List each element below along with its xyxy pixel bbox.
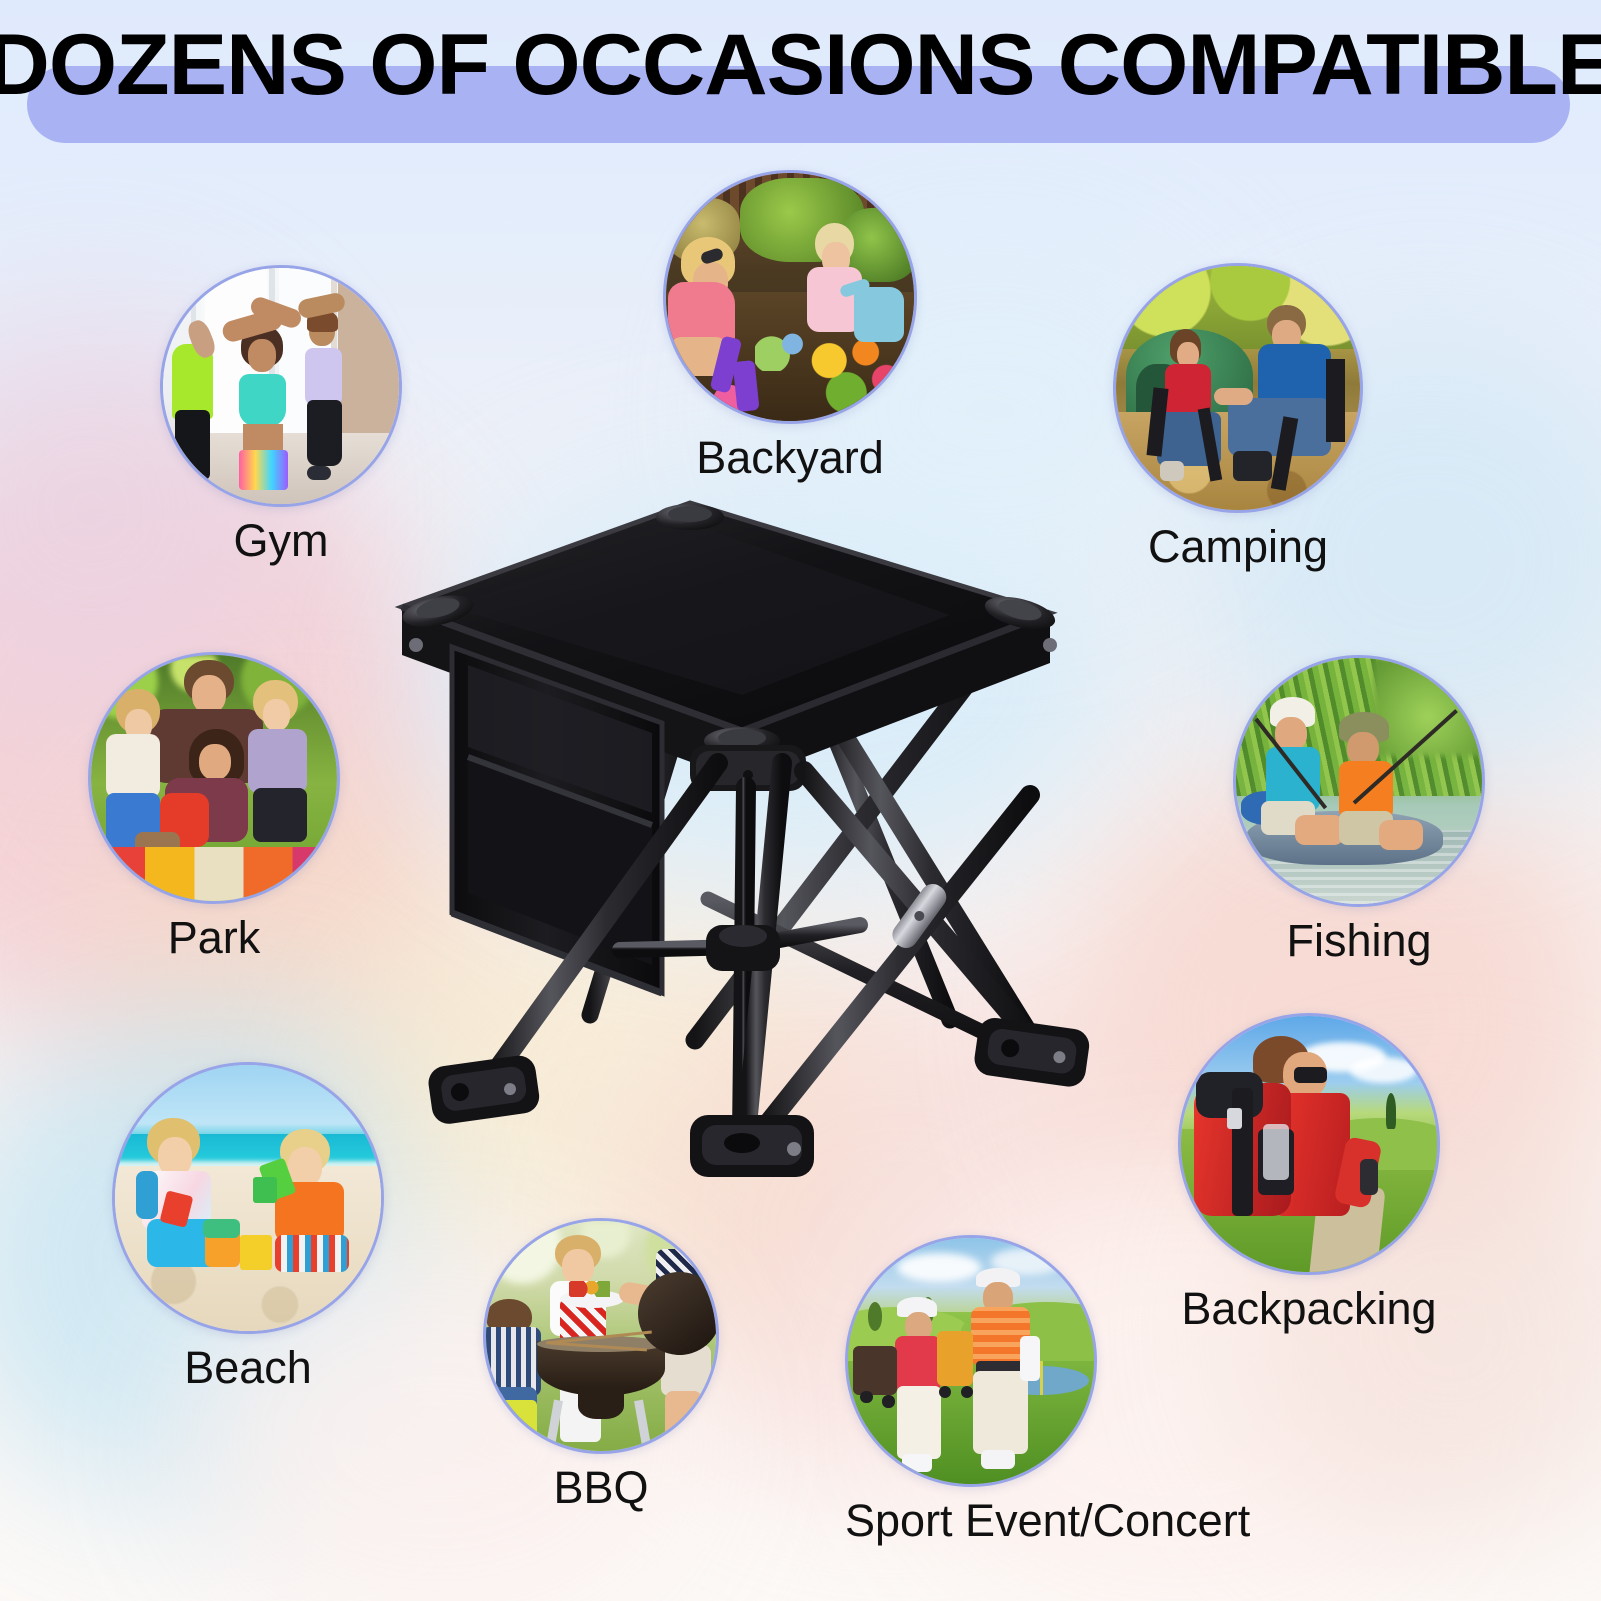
occasion-camping[interactable]: Camping (1113, 263, 1363, 570)
occasion-gym[interactable]: Gym (160, 265, 402, 564)
occasion-camping-image (1113, 263, 1363, 513)
occasion-bbq-label: BBQ (483, 1464, 719, 1511)
occasion-camping-label: Camping (1113, 523, 1363, 570)
occasion-sport-event[interactable]: Sport Event/Concert (845, 1235, 1250, 1544)
product-image-folding-stool (390, 495, 1090, 1255)
folding-stool-illustration (390, 495, 1090, 1255)
occasion-fishing-label: Fishing (1233, 917, 1485, 964)
occasion-backyard-image (663, 170, 917, 424)
occasion-park-label: Park (88, 914, 340, 961)
occasion-beach[interactable]: Beach (112, 1062, 384, 1391)
occasion-fishing[interactable]: Fishing (1233, 655, 1485, 964)
occasion-gym-label: Gym (160, 517, 402, 564)
occasion-park[interactable]: Park (88, 652, 340, 961)
occasion-beach-label: Beach (112, 1344, 384, 1391)
occasion-gym-image (160, 265, 402, 507)
occasion-park-image (88, 652, 340, 904)
occasion-sport-event-image (845, 1235, 1097, 1487)
infographic-canvas: DOZENS OF OCCASIONS COMPATIBLE (0, 0, 1601, 1601)
occasion-beach-image (112, 1062, 384, 1334)
occasion-bbq-image (483, 1218, 719, 1454)
occasion-backyard-label: Backyard (663, 434, 917, 481)
occasion-backyard[interactable]: Backyard (663, 170, 917, 481)
occasion-sport-event-label: Sport Event/Concert (845, 1497, 1250, 1544)
page-title: DOZENS OF OCCASIONS COMPATIBLE (0, 22, 1601, 108)
occasion-fishing-image (1233, 655, 1485, 907)
occasion-bbq[interactable]: BBQ (483, 1218, 719, 1511)
